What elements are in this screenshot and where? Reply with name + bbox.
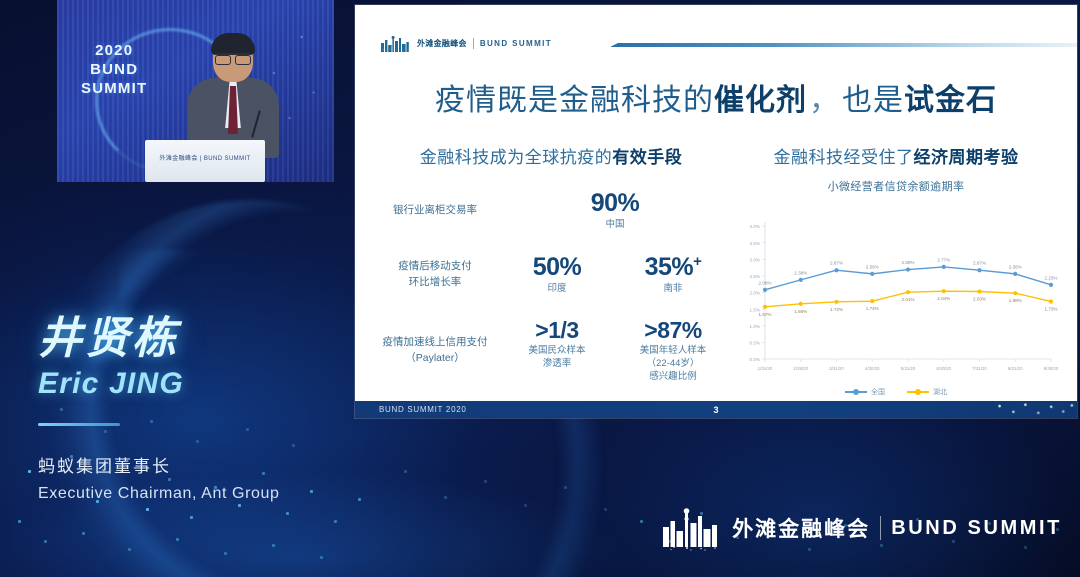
legend-swatch [907, 391, 929, 393]
stat-label-sub: （Paylater） [371, 351, 499, 367]
stat-caption: 美国民众样本 渗透率 [509, 345, 605, 371]
legend-swatch [845, 391, 867, 393]
svg-text:4/30/20: 4/30/20 [865, 366, 880, 371]
svg-text:5/31/20: 5/31/20 [901, 366, 916, 371]
slide-header-logo-en: BUND SUMMIT [480, 39, 552, 48]
svg-text:2.69%: 2.69% [901, 260, 914, 265]
stat-row: 疫情加速线上信用支付 （Paylater） >1/3 美国民众样本 渗透率 [371, 318, 731, 384]
speaker-figure [185, 36, 281, 156]
stat-number: 35%+ [625, 254, 721, 280]
stat-number: 50% [509, 254, 605, 280]
speaker-divider-rule [38, 423, 120, 426]
chart-svg: 4.0%3.5%3.0%2.5%2.0%1.5%1.0%0.5%0.0%1/31… [731, 200, 1061, 385]
shanghai-skyline-icon [660, 505, 722, 551]
svg-text:2.01%: 2.01% [901, 297, 914, 302]
slide-header: 外滩金融峰会 BUND SUMMIT [355, 5, 1077, 53]
svg-text:7/31/20: 7/31/20 [972, 366, 987, 371]
right-column-heading: 金融科技经受住了经济周期考验 [731, 143, 1061, 168]
svg-text:1.98%: 1.98% [1009, 298, 1022, 303]
svg-text:3/31/20: 3/31/20 [829, 366, 844, 371]
stat-row-label: 疫情加速线上信用支付 （Paylater） [371, 335, 499, 367]
stat-caption: 南非 [625, 283, 721, 296]
svg-text:2/29/20: 2/29/20 [793, 366, 808, 371]
stat-caption-line: 美国年轻人样本 [625, 345, 721, 358]
svg-text:2.56%: 2.56% [1009, 264, 1022, 269]
slide-header-logo: 外滩金融峰会 BUND SUMMIT [379, 33, 552, 53]
stat-row-values: 90% 中国 [499, 190, 731, 232]
svg-text:2.0%: 2.0% [750, 291, 760, 296]
overdue-rate-line-chart[interactable]: 4.0%3.5%3.0%2.5%2.0%1.5%1.0%0.5%0.0%1/31… [731, 200, 1061, 408]
stat-label-sub: 环比增长率 [371, 275, 499, 291]
svg-text:2.04%: 2.04% [937, 296, 950, 301]
left-heading-normal: 金融科技成为全球抗疫的 [420, 148, 613, 167]
svg-text:2.03%: 2.03% [973, 297, 986, 302]
podium: 外滩金融峰会 | BUND SUMMIT [145, 140, 265, 182]
svg-text:6/30/20: 6/30/20 [936, 366, 951, 371]
svg-text:3.5%: 3.5% [750, 241, 760, 246]
svg-text:2.67%: 2.67% [973, 261, 986, 266]
left-column-heading: 金融科技成为全球抗疫的有效手段 [371, 143, 731, 168]
stat-number: >87% [625, 318, 721, 342]
stat-row: 疫情后移动支付 环比增长率 50% 印度 35%+ [371, 254, 731, 296]
slide-header-rule [610, 43, 1077, 47]
svg-text:1.72%: 1.72% [830, 307, 843, 312]
speaker-lower-third: 井贤栋 Eric JING 蚂蚁集团董事长 Executive Chairman… [38, 315, 358, 503]
stat-row: 银行业离柜交易率 90% 中国 [371, 190, 731, 232]
svg-text:1.73%: 1.73% [1044, 306, 1057, 311]
legend-label: 全国 [871, 387, 885, 397]
slide-title-part2: 也是 [842, 83, 904, 118]
right-heading-normal: 金融科技经受住了 [774, 148, 914, 167]
svg-text:1.57%: 1.57% [758, 312, 771, 317]
slide-header-logo-cn: 外滩金融峰会 [417, 38, 467, 49]
left-heading-bold: 有效手段 [612, 148, 682, 167]
video-backdrop-line-1: 2020 [81, 42, 147, 61]
stat-label-main: 疫情后移动支付 [398, 260, 472, 272]
shanghai-skyline-icon [379, 33, 411, 53]
svg-text:2.23%: 2.23% [1044, 275, 1057, 280]
stat-row-label: 疫情后移动支付 环比增长率 [371, 259, 499, 291]
slide-right-column: 金融科技经受住了经济周期考验 小微经营者信贷余额逾期率 4.0%3.5%3.0%… [731, 143, 1061, 418]
glasses-icon [215, 53, 251, 61]
stat-value: >1/3 美国民众样本 渗透率 [509, 318, 605, 384]
stat-row-label: 银行业离柜交易率 [371, 203, 499, 219]
svg-text:2.77%: 2.77% [937, 257, 950, 262]
slide-footer-dots [991, 401, 1077, 418]
video-backdrop-line-3: SUMMIT [81, 80, 147, 99]
legend-item[interactable]: 湖北 [907, 387, 947, 397]
chart-legend: 全国湖北 [731, 387, 1061, 397]
speaker-hair [211, 33, 255, 55]
speaker-name-cn: 井贤栋 [38, 315, 358, 363]
svg-text:2.08%: 2.08% [758, 280, 771, 285]
stat-row-values: 50% 印度 35%+ 南非 [499, 254, 731, 296]
brand-logo-cn: 外滩金融峰会 [732, 513, 870, 543]
slide-left-column: 金融科技成为全球抗疫的有效手段 银行业离柜交易率 90% 中国 [371, 143, 731, 418]
svg-text:2.56%: 2.56% [866, 264, 879, 269]
svg-text:0.5%: 0.5% [750, 341, 760, 346]
legend-label: 湖北 [933, 387, 947, 397]
stat-caption-line: 中国 [567, 219, 663, 232]
right-heading-bold: 经济周期考验 [914, 148, 1019, 167]
podium-logo-text: 外滩金融峰会 | BUND SUMMIT [145, 153, 265, 162]
slide-body: 金融科技成为全球抗疫的有效手段 银行业离柜交易率 90% 中国 [355, 143, 1077, 418]
svg-text:0.0%: 0.0% [750, 357, 760, 362]
logo-divider [473, 38, 474, 49]
stat-caption-line: 南非 [625, 283, 721, 296]
svg-text:4.0%: 4.0% [750, 224, 760, 229]
stat-caption: 印度 [509, 283, 605, 296]
stat-number: >1/3 [509, 318, 605, 342]
stat-number-text: 35% [645, 253, 694, 281]
svg-text:9/30/20: 9/30/20 [1044, 366, 1059, 371]
stat-caption-line: 渗透率 [509, 358, 605, 371]
stat-label-main: 疫情加速线上信用支付 [383, 336, 488, 348]
legend-item[interactable]: 全国 [845, 387, 885, 397]
stat-caption-line: （22-44岁） [625, 358, 721, 371]
speaker-title-en: Executive Chairman, Ant Group [38, 485, 358, 503]
stat-caption: 美国年轻人样本 （22-44岁） 感兴趣比例 [625, 345, 721, 383]
slide-title-comma: ， [807, 83, 842, 118]
slide-title-highlight2: 试金石 [904, 83, 997, 118]
stat-number-plus: + [693, 253, 701, 270]
stat-caption-line: 感兴趣比例 [625, 371, 721, 384]
brand-logo-divider [880, 516, 881, 540]
stat-value: 50% 印度 [509, 254, 605, 296]
speaker-video-thumbnail[interactable]: 2020 BUND SUMMIT 外滩金融峰会 | BUND SUMMIT [57, 0, 334, 182]
presentation-slide[interactable]: 外滩金融峰会 BUND SUMMIT 疫情既是金融科技的催化剂，也是试金石 金融… [355, 5, 1077, 418]
broadcast-stage: 2020 BUND SUMMIT 外滩金融峰会 | BUND SUMMIT [0, 0, 1080, 577]
stat-label-main: 银行业离柜交易率 [393, 204, 477, 216]
stat-number: 90% [567, 190, 663, 216]
slide-title-highlight1: 催化剂 [714, 83, 807, 118]
svg-text:1.74%: 1.74% [866, 306, 879, 311]
stat-row-values: >1/3 美国民众样本 渗透率 >87% 美国年轻人样本 （2 [499, 318, 731, 384]
slide-footer: BUND SUMMIT 2020 3 [355, 401, 1077, 418]
svg-text:2.5%: 2.5% [750, 274, 760, 279]
stat-value: 35%+ 南非 [625, 254, 721, 296]
video-backdrop-title: 2020 BUND SUMMIT [81, 42, 147, 98]
svg-text:2.67%: 2.67% [830, 261, 843, 266]
slide-title: 疫情既是金融科技的催化剂，也是试金石 [355, 75, 1077, 119]
svg-text:8/31/20: 8/31/20 [1008, 366, 1023, 371]
svg-text:3.0%: 3.0% [750, 257, 760, 262]
svg-text:1.0%: 1.0% [750, 324, 760, 329]
stat-caption-line: 美国民众样本 [509, 345, 605, 358]
bund-summit-brand-logo: 外滩金融峰会 BUND SUMMIT [660, 505, 1062, 551]
statistics-rows: 银行业离柜交易率 90% 中国 [371, 190, 731, 416]
stat-caption: 中国 [567, 219, 663, 232]
svg-text:2.38%: 2.38% [794, 270, 807, 275]
video-backdrop-line-2: BUND [81, 61, 147, 80]
stat-caption-line: 印度 [509, 283, 605, 296]
svg-text:1.66%: 1.66% [794, 309, 807, 314]
brand-logo-en: BUND SUMMIT [891, 517, 1062, 540]
stat-value: >87% 美国年轻人样本 （22-44岁） 感兴趣比例 [625, 318, 721, 384]
chart-subtitle: 小微经营者信贷余额逾期率 [731, 178, 1061, 194]
slide-page-number: 3 [355, 405, 1077, 415]
slide-title-part1: 疫情既是金融科技的 [435, 83, 714, 118]
svg-text:1/31/20: 1/31/20 [758, 366, 773, 371]
stat-value: 90% 中国 [567, 190, 663, 232]
speaker-title-cn: 蚂蚁集团董事长 [38, 452, 358, 477]
speaker-name-en: Eric JING [38, 367, 358, 401]
